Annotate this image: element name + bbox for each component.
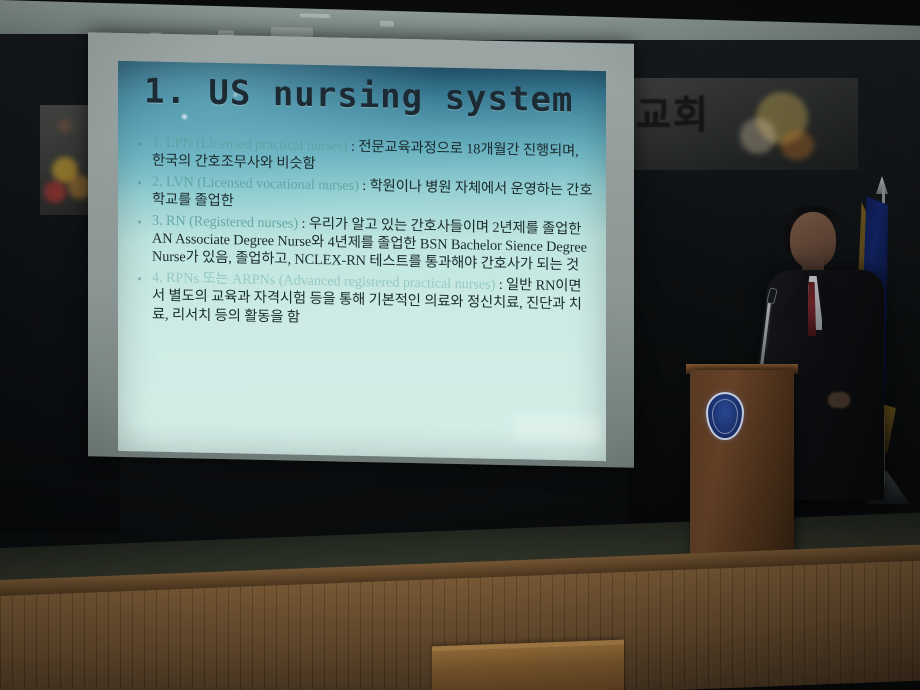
wall-banner: 교회: [628, 78, 858, 170]
banner-text: 교회: [636, 84, 710, 139]
bullet-2-text: 2. LVN (Licensed vocational nurses) : 학원…: [152, 173, 592, 209]
bullet-1-sep: :: [348, 139, 359, 155]
projector-screen: 1. US nursing system 1. LPN (Licensed pr…: [118, 61, 606, 461]
bullet-3-en: 3. RN (Registered nurses): [152, 212, 298, 231]
ceiling-light: [380, 21, 394, 27]
bullet-dot-icon: [138, 181, 141, 184]
screen-speck: [182, 114, 187, 119]
list-item: 3. RN (Registered nurses) : 우리가 알고 있는 간호…: [132, 211, 594, 276]
screen-hotspot: [514, 415, 600, 443]
speaker-hand: [828, 392, 850, 408]
bullet-1-en: 1. LPN (Licensed practical nurses): [152, 135, 348, 155]
slide-bullet-list: 1. LPN (Licensed practical nurses) : 전문교…: [132, 133, 594, 335]
bullet-dot-icon: [138, 142, 141, 145]
slide-title: 1. US nursing system: [144, 71, 573, 120]
crest-glyph: [723, 408, 727, 421]
bullet-3-sep: :: [298, 215, 309, 231]
bullet-4-sep: :: [495, 277, 506, 293]
list-item: 4. RPNs 또는 ARPNs (Advanced registered pr…: [132, 268, 594, 333]
lecture-hall-photo: 교회 1. US nursing system 1. LPN (Licensed…: [0, 0, 920, 690]
stage-step-box: [432, 640, 624, 690]
ceiling-rail: [300, 13, 330, 18]
bullet-dot-icon: [138, 220, 141, 223]
bullet-2-sep: :: [359, 178, 370, 194]
bullet-2-en: 2. LVN (Licensed vocational nurses): [152, 173, 359, 193]
bullet-4-text: 4. RPNs 또는 ARPNs (Advanced registered pr…: [152, 269, 582, 325]
bullet-dot-icon: [138, 277, 141, 280]
bullet-1-text: 1. LPN (Licensed practical nurses) : 전문교…: [152, 135, 579, 173]
bullet-3-text: 3. RN (Registered nurses) : 우리가 알고 있는 간호…: [152, 212, 587, 274]
